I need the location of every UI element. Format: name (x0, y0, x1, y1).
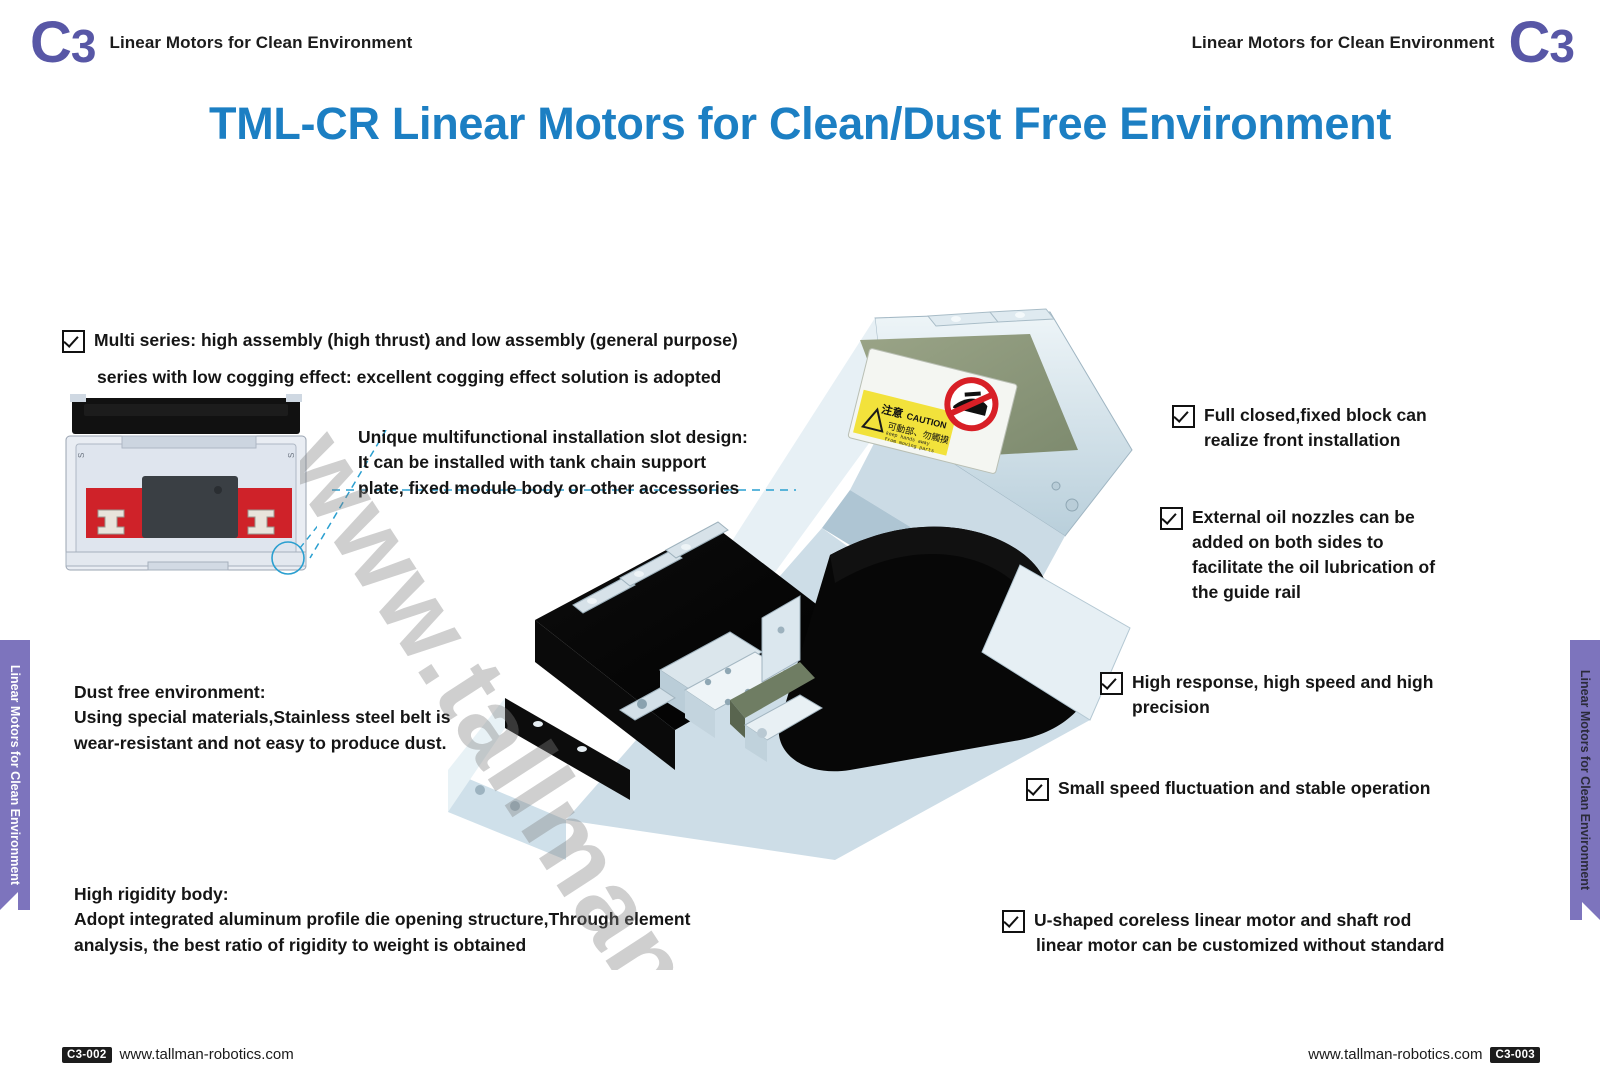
header-left-title: Linear Motors for Clean Environment (109, 33, 412, 53)
bullet-oil-nozzles-line4: the guide rail (1192, 580, 1435, 605)
bullet-full-closed: Full closed,fixed block can realize fron… (1172, 403, 1502, 453)
dust-free-block: Dust free environment: Using special mat… (74, 680, 494, 756)
side-tab-left-label: Linear Motors for Clean Environment (8, 665, 22, 885)
bullet-high-response-line1: High response, high speed and high (1132, 670, 1433, 695)
checkbox-icon (62, 330, 85, 353)
bullet-full-closed-line2: realize front installation (1204, 428, 1427, 453)
footer-left: C3-002 www.tallman-robotics.com (62, 1046, 294, 1063)
rigidity-heading: High rigidity body: (74, 882, 774, 907)
checkbox-icon (1172, 405, 1195, 428)
bullet-multi-series-line2: series with low cogging effect: excellen… (97, 365, 817, 390)
checkbox-icon (1100, 672, 1123, 695)
svg-text:S: S (287, 453, 296, 458)
footer-right-code: C3-003 (1490, 1047, 1540, 1063)
header-right: Linear Motors for Clean Environment C3 (1192, 14, 1574, 72)
dust-free-line1: Using special materials,Stainless steel … (74, 705, 494, 730)
rigidity-line2: analysis, the best ratio of rigidity to … (74, 933, 774, 958)
bullet-multi-series: Multi series: high assembly (high thrust… (62, 328, 802, 353)
bullet-full-closed-line1: Full closed,fixed block can (1204, 403, 1427, 428)
slot-design-block: Unique multifunctional installation slot… (358, 425, 788, 501)
rigidity-block: High rigidity body: Adopt integrated alu… (74, 882, 774, 958)
bullet-oil-nozzles: External oil nozzles can be added on bot… (1160, 505, 1500, 604)
bullet-oil-nozzles-line1: External oil nozzles can be (1192, 505, 1435, 530)
footer-right: www.tallman-robotics.com C3-003 (1308, 1046, 1540, 1063)
cross-section-svg: S S (62, 392, 317, 582)
bullet-u-shaped-line1: U-shaped coreless linear motor and shaft… (1034, 908, 1444, 933)
c3-logo-right: C3 (1509, 14, 1574, 72)
dust-free-line2: wear-resistant and not easy to produce d… (74, 731, 494, 756)
bullet-multi-series-line1: Multi series: high assembly (high thrust… (94, 330, 738, 350)
slot-design-line3: plate, fixed module body or other access… (358, 476, 788, 501)
bullet-u-shaped: U-shaped coreless linear motor and shaft… (1002, 908, 1492, 958)
checkbox-icon (1160, 507, 1183, 530)
svg-text:S: S (77, 453, 86, 458)
bullet-u-shaped-line2: linear motor can be customized without s… (1034, 933, 1444, 958)
footer-right-url[interactable]: www.tallman-robotics.com (1308, 1046, 1482, 1063)
bullet-small-fluctuation-text: Small speed fluctuation and stable opera… (1058, 778, 1430, 798)
side-tab-left: Linear Motors for Clean Environment (0, 640, 30, 910)
rigidity-line1: Adopt integrated aluminum profile die op… (74, 907, 774, 932)
bullet-small-fluctuation: Small speed fluctuation and stable opera… (1026, 776, 1496, 801)
checkbox-icon (1002, 910, 1025, 933)
bullet-oil-nozzles-line3: facilitate the oil lubrication of (1192, 555, 1435, 580)
footer-left-code: C3-002 (62, 1047, 112, 1063)
checkbox-icon (1026, 778, 1049, 801)
side-tab-right-label: Linear Motors for Clean Environment (1578, 670, 1592, 890)
bullet-high-response: High response, high speed and high preci… (1100, 670, 1460, 720)
header-left: C3 Linear Motors for Clean Environment (30, 14, 412, 72)
footer-left-url[interactable]: www.tallman-robotics.com (120, 1046, 294, 1063)
header-right-title: Linear Motors for Clean Environment (1192, 33, 1495, 53)
side-tab-right: Linear Motors for Clean Environment (1570, 640, 1600, 920)
slot-design-line2: It can be installed with tank chain supp… (358, 450, 788, 475)
cross-section-diagram: S S (62, 392, 317, 582)
page-canvas: C3 Linear Motors for Clean Environment L… (0, 0, 1600, 1087)
c3-logo-left: C3 (30, 14, 95, 72)
bullet-high-response-line2: precision (1132, 695, 1433, 720)
dust-free-heading: Dust free environment: (74, 680, 494, 705)
page-title: TML-CR Linear Motors for Clean/Dust Free… (0, 98, 1600, 150)
bullet-oil-nozzles-line2: added on both sides to (1192, 530, 1435, 555)
slot-design-line1: Unique multifunctional installation slot… (358, 425, 788, 450)
